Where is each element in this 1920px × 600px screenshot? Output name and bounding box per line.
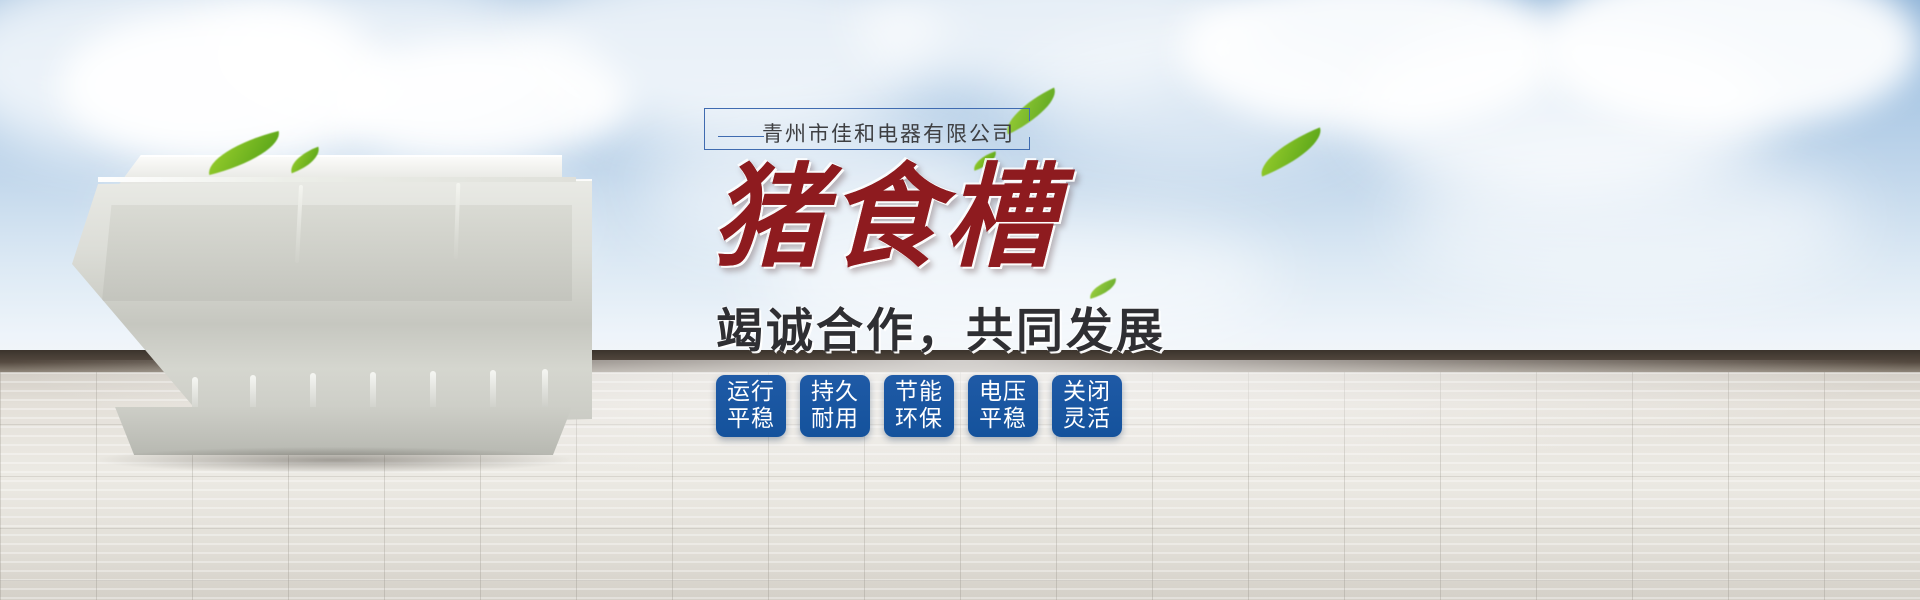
badge-line-2: 环保 [895,406,943,433]
badge-line-2: 灵活 [1063,406,1111,433]
badge-line-2: 耐用 [811,406,859,433]
product-image-feeder-trough [72,155,592,465]
badge-line-1: 持久 [811,379,859,406]
feature-badge-0[interactable]: 运行 平稳 [716,375,786,437]
page-title: 猪食槽 [712,162,1060,274]
company-name: 青州市佳和电器有限公司 [762,118,1015,148]
badge-line-1: 电压 [979,379,1027,406]
feature-badge-3[interactable]: 电压 平稳 [968,375,1038,437]
badge-line-1: 运行 [727,379,775,406]
company-rule [718,136,764,137]
feature-badge-1[interactable]: 持久 耐用 [800,375,870,437]
trough-body [72,179,592,429]
subtitle: 竭诚合作，共同发展 [716,308,1166,355]
badge-line-2: 平稳 [727,406,775,433]
product-shadow [100,447,570,473]
badge-line-1: 节能 [895,379,943,406]
trough-inner-wall [102,205,572,301]
feature-badge-2[interactable]: 节能 环保 [884,375,954,437]
trough-lip [98,177,576,182]
promotional-banner: 青州市佳和电器有限公司 猪食槽 竭诚合作，共同发展 运行 平稳 持久 耐用 节能… [0,0,1920,600]
feature-badge-4[interactable]: 关闭 灵活 [1052,375,1122,437]
banner-copy-block: 青州市佳和电器有限公司 猪食槽 竭诚合作，共同发展 运行 平稳 持久 耐用 节能… [700,100,1260,570]
feature-badge-list: 运行 平稳 持久 耐用 节能 环保 电压 平稳 关闭 灵活 [716,375,1122,437]
badge-line-1: 关闭 [1063,379,1111,406]
badge-line-2: 平稳 [979,406,1027,433]
company-name-frame: 青州市佳和电器有限公司 [704,100,1034,152]
